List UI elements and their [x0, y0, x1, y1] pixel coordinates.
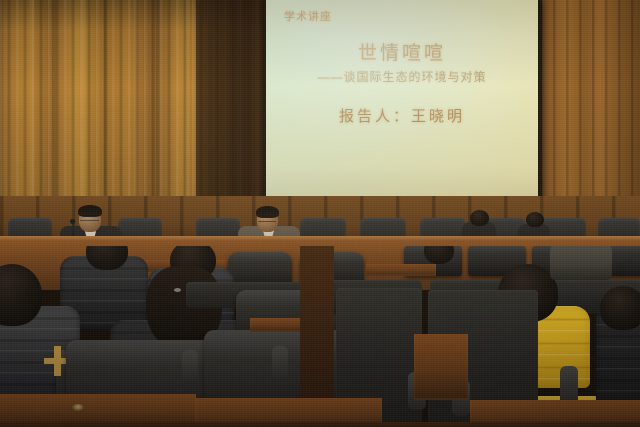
audience-head — [600, 286, 640, 330]
desk-cable-grommet — [72, 404, 84, 411]
foreground-shadow — [0, 422, 640, 427]
lecture-hall-photograph: 学术讲座 世情喧喧 ——谈国际生态的环境与对策 报告人：王晓明 — [0, 0, 640, 427]
head-table-figure-head — [526, 212, 544, 227]
audience-member — [550, 246, 612, 280]
slide-title-text: 世情喧喧 — [266, 38, 538, 65]
projection-screen-frame: 学术讲座 世情喧喧 ——谈国际生态的环境与对策 报告人：王晓明 — [263, 0, 542, 205]
screen-vignette — [266, 0, 538, 197]
slide-kicker-text: 学术讲座 — [284, 8, 332, 24]
screen-light-glow — [266, 0, 538, 197]
brass-chair-ornament — [54, 346, 61, 376]
chair-armrest — [272, 346, 288, 380]
audience-desk — [366, 264, 436, 276]
chair-armrest — [182, 350, 198, 384]
hair-tie — [174, 288, 181, 292]
speaker-glasses — [258, 216, 276, 222]
wood-wall-right — [540, 0, 640, 215]
audience-desk — [414, 334, 468, 400]
slide-subtitle-text: ——谈国际生态的环境与对策 — [266, 68, 538, 85]
audience-hall — [0, 246, 640, 427]
slide-speaker-text: 报告人：王晓明 — [266, 105, 538, 126]
speaker-glasses — [80, 215, 99, 221]
head-table-figure-head — [470, 210, 489, 226]
projection-screen: 学术讲座 世情喧喧 ——谈国际生态的环境与对策 报告人：王晓明 — [266, 0, 538, 197]
microphone-head — [70, 219, 75, 224]
